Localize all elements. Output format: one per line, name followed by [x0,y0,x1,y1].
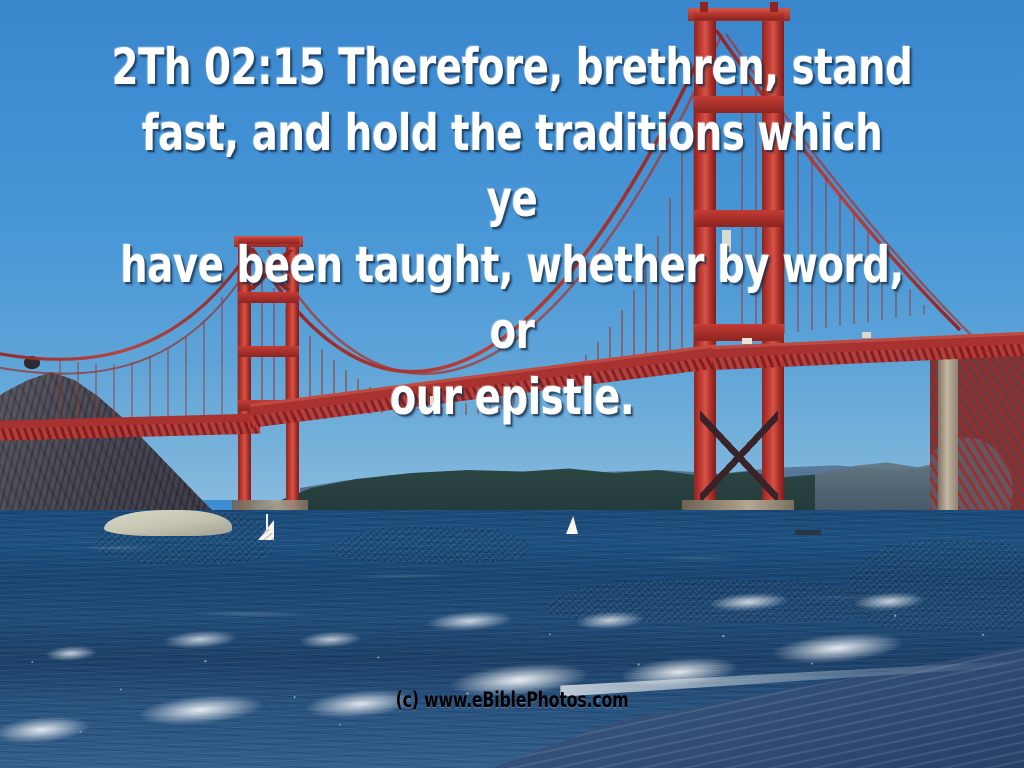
photo-canvas: 2Th 02:15 Therefore, brethren, stand fas… [0,0,1024,768]
bible-verse-text: 2Th 02:15 Therefore, brethren, stand fas… [72,34,953,430]
freighter-boat [795,530,821,535]
offshore-rock-left-guano [104,510,232,536]
site-watermark: (c) www.eBiblePhotos.com [82,688,942,712]
offshore-rock-middle [330,527,530,563]
cliff-top-bush [24,356,40,369]
